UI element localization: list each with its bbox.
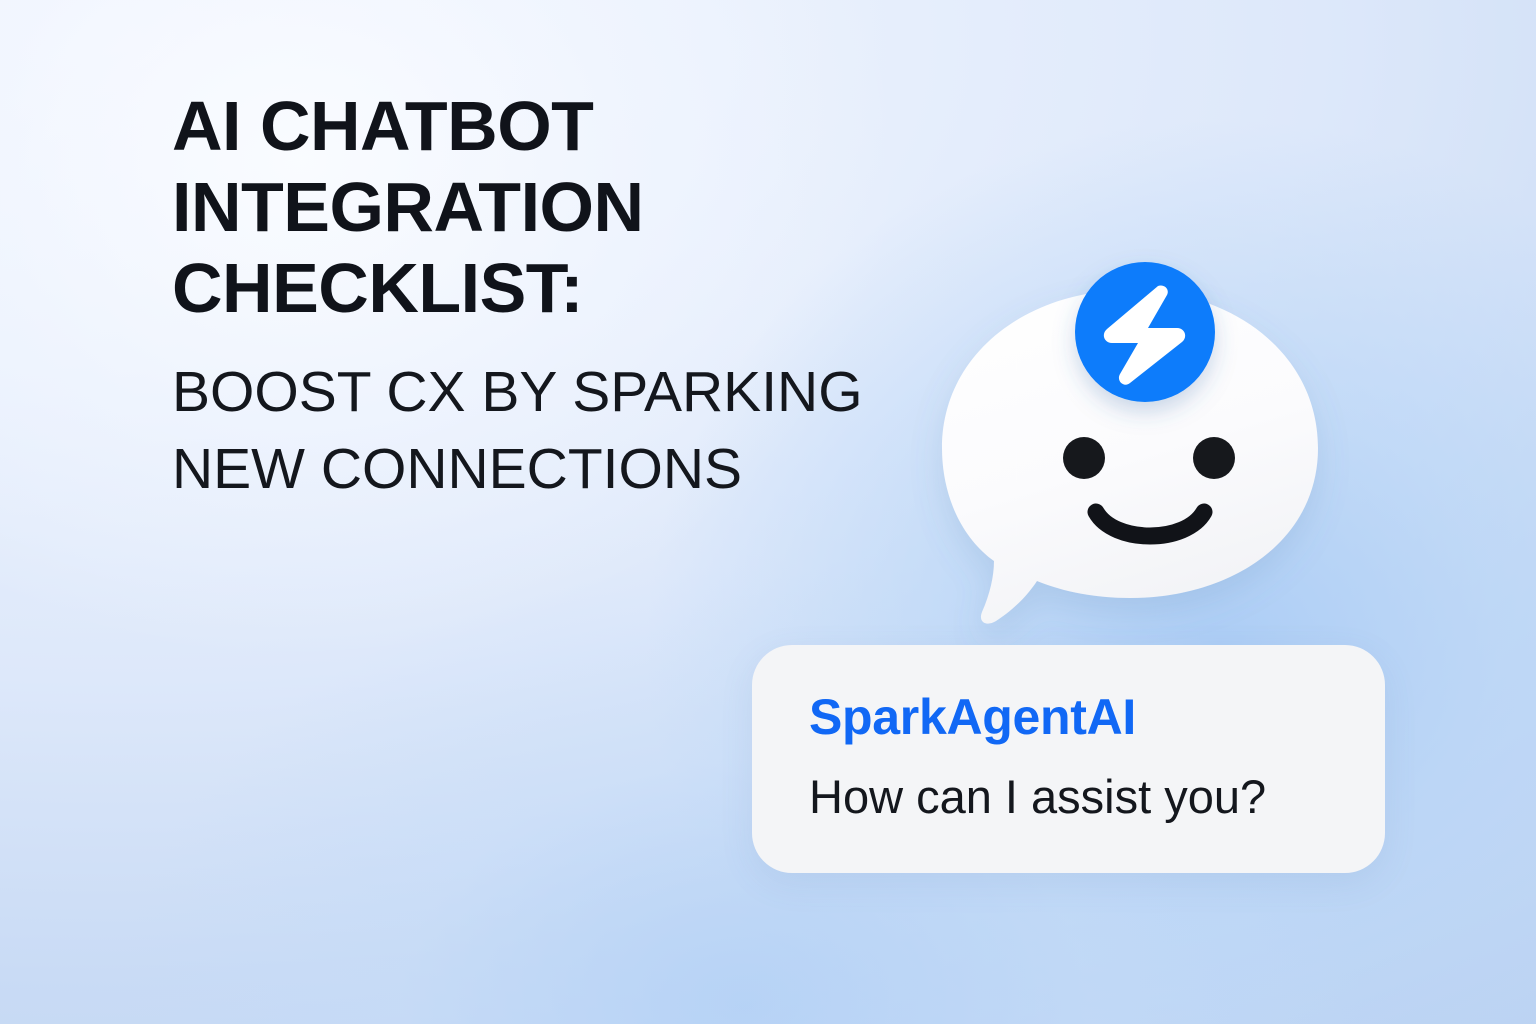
lightning-bolt-icon — [1075, 262, 1215, 402]
page-title: AI CHATBOT INTEGRATION CHECKLIST: — [172, 86, 872, 330]
page-subtitle: BOOST CX BY SPARKING NEW CONNECTIONS — [172, 354, 872, 509]
chat-message-card[interactable]: SparkAgentAI How can I assist you? — [752, 645, 1385, 873]
chatbot-mascot — [900, 250, 1360, 660]
agent-message-text: How can I assist you? — [809, 772, 1345, 823]
eye-dot-left — [1063, 437, 1105, 479]
eye-dot-right — [1193, 437, 1235, 479]
chat-message-content: SparkAgentAI How can I assist you? — [809, 692, 1345, 823]
poster-canvas: AI CHATBOT INTEGRATION CHECKLIST: BOOST … — [0, 0, 1536, 1024]
agent-name-label: SparkAgentAI — [809, 692, 1345, 742]
headline-block: AI CHATBOT INTEGRATION CHECKLIST: BOOST … — [172, 86, 872, 509]
